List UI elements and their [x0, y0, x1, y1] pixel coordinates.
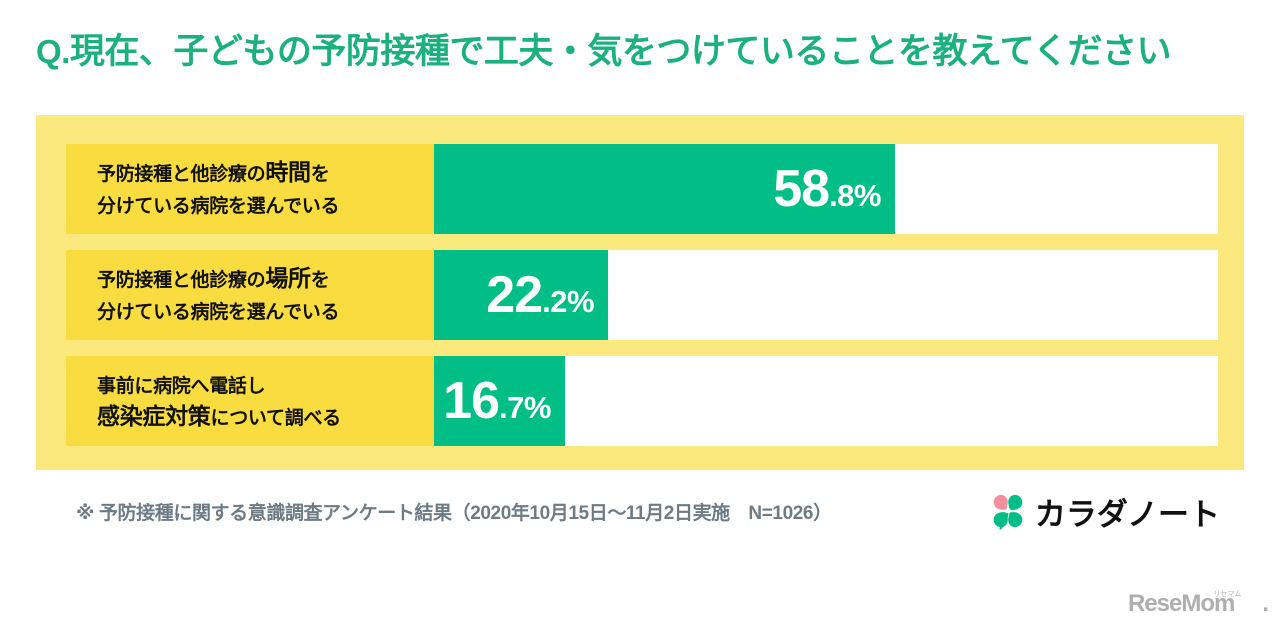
label-text-suffix: を	[311, 270, 330, 291]
question-text: 現在、子どもの予防接種で工夫・気をつけていることを教えてください	[70, 32, 1171, 71]
bar-label-line1: 予防接種と他診療の場所を	[97, 263, 434, 295]
watermark-suffix: .	[1262, 592, 1268, 616]
resemom-watermark: ReseMom リセマム .	[1128, 592, 1268, 616]
bar-row: 予防接種と他診療の時間を 分けている病院を選んでいる 58.8%	[66, 144, 1218, 234]
bar-label-cell: 予防接種と他診療の場所を 分けている病院を選んでいる	[66, 250, 434, 340]
label-text-normal: 予防接種と他診療の	[97, 270, 265, 291]
bar-value-fraction: .7%	[499, 392, 551, 423]
label-text-normal-2: について調べる	[211, 408, 341, 429]
chart-panel: 予防接種と他診療の時間を 分けている病院を選んでいる 58.8% 予防接種と他診…	[36, 115, 1244, 470]
bar-track: 58.8%	[434, 144, 1218, 234]
bar-value-integer: 22	[486, 269, 542, 321]
bar-label-line1: 事前に病院へ電話し	[97, 369, 434, 401]
bar-track: 22.2%	[434, 250, 1218, 340]
page-title: Q.現在、子どもの予防接種で工夫・気をつけていることを教えてください	[36, 33, 1171, 72]
bar-value-integer: 58	[773, 163, 829, 215]
bar-value: 22.2%	[486, 269, 594, 321]
bar-value: 58.8%	[773, 163, 881, 215]
brand-name: カラダノート	[1035, 489, 1220, 534]
label-text-emphasis-2: 感染症対策	[97, 403, 211, 429]
bar-fill: 16.7%	[434, 356, 565, 446]
watermark-ruby: リセマム	[1213, 591, 1241, 598]
bar-fill: 58.8%	[434, 144, 895, 234]
bar-row: 予防接種と他診療の場所を 分けている病院を選んでいる 22.2%	[66, 250, 1218, 340]
label-text-suffix: を	[311, 164, 330, 185]
bar-rows: 予防接種と他診療の時間を 分けている病院を選んでいる 58.8% 予防接種と他診…	[66, 144, 1218, 446]
brand-logo: カラダノート	[988, 489, 1244, 534]
label-text-normal: 予防接種と他診療の	[97, 164, 265, 185]
bar-label-line2: 分けている病院を選んでいる	[97, 295, 434, 327]
bar-label-cell: 予防接種と他診療の時間を 分けている病院を選んでいる	[66, 144, 434, 234]
bar-label-cell: 事前に病院へ電話し 感染症対策について調べる	[66, 356, 434, 446]
label-text-normal: 事前に病院へ電話し	[97, 376, 265, 397]
footer: ※ 予防接種に関する意識調査アンケート結果（2020年10月15日〜11月2日実…	[36, 487, 1244, 535]
clover-icon	[988, 491, 1028, 531]
label-text-emphasis: 場所	[265, 265, 310, 291]
bar-value-fraction: .8%	[829, 180, 881, 211]
bar-row: 事前に病院へ電話し 感染症対策について調べる 16.7%	[66, 356, 1218, 446]
bar-label-line2: 感染症対策について調べる	[97, 401, 434, 433]
question-prefix: Q.	[36, 33, 70, 70]
bar-track: 16.7%	[434, 356, 1218, 446]
label-text-normal-2: 分けている病院を選んでいる	[97, 196, 339, 217]
label-text-emphasis: 時間	[265, 159, 310, 185]
bar-label-line1: 予防接種と他診療の時間を	[97, 157, 434, 189]
bar-value-fraction: .2%	[542, 286, 594, 317]
bar-value-integer: 16	[443, 375, 499, 427]
survey-note: ※ 予防接種に関する意識調査アンケート結果（2020年10月15日〜11月2日実…	[36, 498, 832, 525]
bar-label-line2: 分けている病院を選んでいる	[97, 189, 434, 221]
bar-fill: 22.2%	[434, 250, 608, 340]
bar-value: 16.7%	[443, 375, 551, 427]
label-text-normal-2: 分けている病院を選んでいる	[97, 302, 339, 323]
